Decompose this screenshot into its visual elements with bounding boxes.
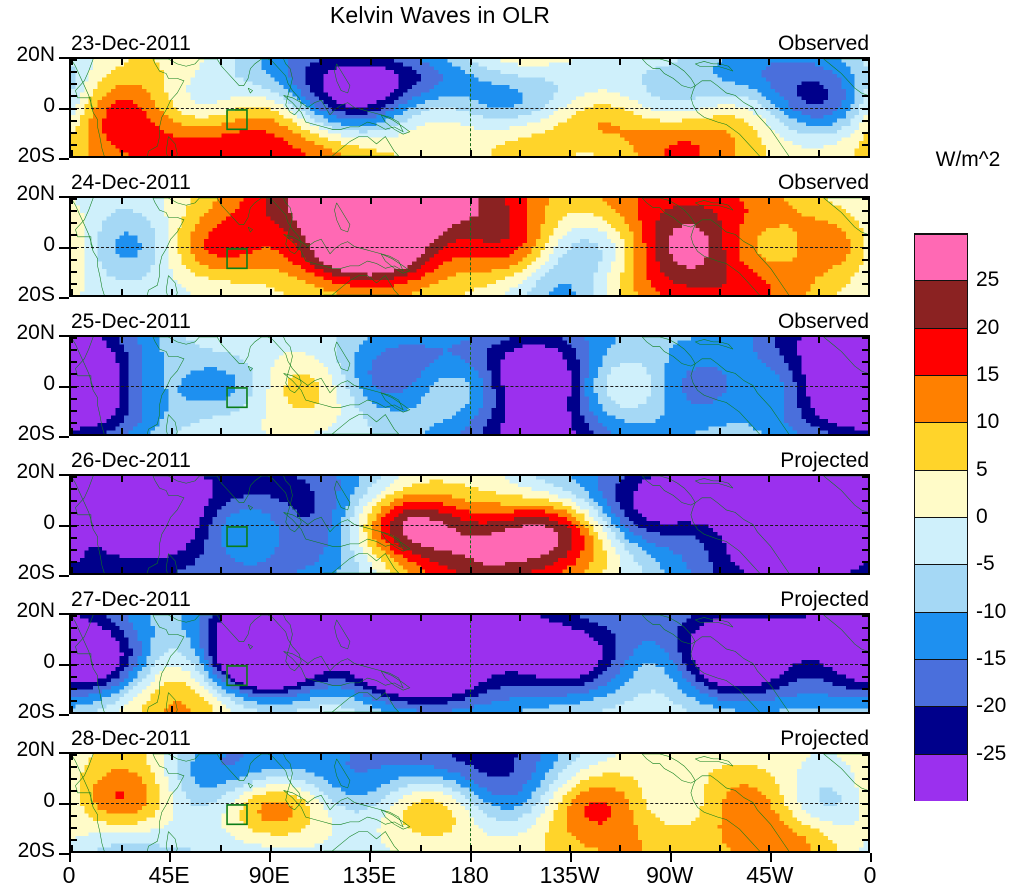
x-tick-inner — [470, 615, 472, 621]
y-tick-inner — [862, 259, 868, 261]
x-tick-inner — [320, 706, 322, 712]
x-tick-inner — [370, 615, 372, 621]
x-axis-label: 0 — [864, 862, 877, 889]
y-tick — [59, 297, 69, 299]
x-tick — [770, 853, 772, 862]
x-tick-inner — [171, 337, 173, 343]
x-tick-inner — [868, 150, 870, 156]
y-tick-inner — [71, 500, 77, 502]
y-tick — [59, 196, 69, 198]
y-tick-inner — [862, 132, 868, 134]
y-tick — [59, 803, 69, 805]
panel-date-label: 26-Dec-2011 — [71, 449, 191, 473]
y-tick-inner — [862, 488, 868, 490]
y-tick-inner — [862, 222, 868, 224]
x-tick-inner — [669, 476, 671, 482]
y-axis-label: 20N — [0, 738, 55, 762]
y-axis-label: 20N — [0, 182, 55, 206]
x-tick-inner — [669, 706, 671, 712]
x-axis-label: 180 — [450, 862, 488, 889]
x-tick-inner — [868, 59, 870, 65]
x-tick-inner — [868, 567, 870, 573]
dateline-180-line — [470, 754, 471, 851]
x-tick-inner — [519, 337, 521, 343]
x-tick-inner — [270, 198, 272, 204]
x-tick-inner — [370, 845, 372, 851]
colorbar-separator — [914, 564, 968, 565]
x-tick-inner — [868, 615, 870, 621]
x-tick-inner — [519, 476, 521, 482]
x-tick-inner — [121, 59, 123, 65]
x-tick — [870, 853, 872, 862]
x-tick-inner — [669, 754, 671, 760]
y-tick-inner — [862, 83, 868, 85]
x-tick-inner — [569, 754, 571, 760]
y-axis-label: 20S — [0, 283, 55, 307]
x-tick-inner — [569, 337, 571, 343]
x-tick — [570, 853, 572, 862]
x-tick-inner — [420, 289, 422, 295]
x-tick-inner — [719, 706, 721, 712]
colorbar-band[interactable] — [914, 612, 968, 659]
x-tick-inner — [818, 845, 820, 851]
dateline-180-line — [470, 476, 471, 573]
x-tick-inner — [719, 150, 721, 156]
y-tick-inner — [862, 512, 868, 514]
y-tick — [59, 714, 69, 716]
x-tick-inner — [519, 615, 521, 621]
y-axis-label: 20N — [0, 599, 55, 623]
x-tick-inner — [818, 150, 820, 156]
y-tick-inner — [71, 361, 77, 363]
x-tick-inner — [270, 476, 272, 482]
y-tick-inner — [71, 790, 77, 792]
x-tick-inner — [669, 198, 671, 204]
panel-kind-label: Projected — [780, 588, 869, 612]
y-tick-inner — [71, 778, 77, 780]
y-tick-inner — [71, 664, 77, 666]
x-tick-inner — [320, 428, 322, 434]
y-tick-inner — [862, 156, 868, 158]
map-panel-3: 25-Dec-2011Observed20N020S — [69, 335, 870, 436]
colorbar-separator — [914, 706, 968, 707]
y-tick-inner — [71, 537, 77, 539]
x-tick-inner — [818, 476, 820, 482]
x-tick-inner — [171, 845, 173, 851]
panel-date-label: 28-Dec-2011 — [71, 727, 191, 751]
y-tick-inner — [862, 639, 868, 641]
colorbar-band[interactable] — [914, 706, 968, 753]
y-tick-inner — [862, 398, 868, 400]
y-tick-inner — [71, 815, 77, 817]
x-tick-inner — [320, 289, 322, 295]
x-tick-inner — [470, 337, 472, 343]
y-tick-inner — [71, 234, 77, 236]
y-axis-label: 20S — [0, 561, 55, 585]
y-tick — [59, 158, 69, 160]
x-tick-inner — [768, 567, 770, 573]
x-tick-inner — [171, 198, 173, 204]
y-tick-inner — [862, 827, 868, 829]
colorbar-tick-label: 5 — [976, 458, 988, 482]
y-tick — [59, 575, 69, 577]
y-tick-inner — [71, 259, 77, 261]
x-tick — [470, 853, 472, 862]
y-tick-inner — [71, 95, 77, 97]
y-tick — [59, 436, 69, 438]
x-tick-inner — [320, 198, 322, 204]
y-tick — [59, 613, 69, 615]
dateline-180-line — [470, 615, 471, 712]
x-tick-inner — [171, 615, 173, 621]
x-tick-inner — [669, 289, 671, 295]
y-tick-inner — [862, 361, 868, 363]
colorbar-separator — [914, 659, 968, 660]
y-tick-inner — [862, 500, 868, 502]
x-tick-inner — [171, 59, 173, 65]
x-tick-inner — [370, 337, 372, 343]
y-tick — [59, 853, 69, 855]
x-tick-inner — [569, 150, 571, 156]
x-tick-inner — [569, 615, 571, 621]
y-tick-inner — [862, 839, 868, 841]
x-tick — [169, 853, 171, 862]
colorbar-separator — [914, 612, 968, 613]
x-tick-inner — [669, 150, 671, 156]
x-tick-inner — [768, 754, 770, 760]
y-axis-label: 0 — [0, 372, 55, 396]
x-tick-inner — [320, 150, 322, 156]
x-tick-inner — [220, 428, 222, 434]
x-tick-inner — [768, 428, 770, 434]
y-axis-label: 20S — [0, 700, 55, 724]
x-tick-inner — [320, 615, 322, 621]
y-tick — [59, 335, 69, 337]
y-tick-inner — [862, 525, 868, 527]
x-tick-inner — [569, 59, 571, 65]
x-tick-inner — [420, 476, 422, 482]
x-tick-inner — [669, 428, 671, 434]
x-tick-inner — [569, 428, 571, 434]
x-axis-labels: 045E90E135E180135W90W45W0 — [69, 862, 870, 890]
y-tick-inner — [862, 434, 868, 436]
x-tick-inner — [171, 428, 173, 434]
x-tick-inner — [320, 59, 322, 65]
y-tick-inner — [862, 712, 868, 714]
y-tick-inner — [862, 108, 868, 110]
colorbar-band[interactable] — [914, 422, 968, 469]
y-tick-inner — [862, 422, 868, 424]
x-tick-inner — [470, 59, 472, 65]
y-tick-inner — [862, 700, 868, 702]
y-axis-label: 0 — [0, 94, 55, 118]
x-tick-inner — [818, 706, 820, 712]
x-tick-inner — [569, 198, 571, 204]
x-axis-label: 45E — [149, 862, 190, 889]
x-tick-inner — [868, 845, 870, 851]
x-tick-inner — [619, 198, 621, 204]
y-tick-inner — [71, 803, 77, 805]
x-tick-inner — [370, 150, 372, 156]
y-tick-inner — [862, 373, 868, 375]
colorbar-separator — [914, 280, 968, 281]
x-tick-inner — [270, 754, 272, 760]
y-tick-inner — [862, 271, 868, 273]
panel-frame — [69, 335, 870, 436]
colorbar-tick-label: -25 — [976, 742, 1006, 766]
x-tick-inner — [818, 337, 820, 343]
y-tick-inner — [71, 247, 77, 249]
x-tick-inner — [171, 567, 173, 573]
y-tick — [59, 664, 69, 666]
y-tick-inner — [862, 95, 868, 97]
x-tick-inner — [519, 567, 521, 573]
x-tick-inner — [768, 706, 770, 712]
x-tick-inner — [868, 706, 870, 712]
y-tick-inner — [71, 295, 77, 297]
x-tick-inner — [470, 567, 472, 573]
y-tick-inner — [71, 766, 77, 768]
y-tick-inner — [71, 712, 77, 714]
x-tick-inner — [669, 845, 671, 851]
colorbar-band[interactable] — [914, 375, 968, 422]
x-tick-inner — [569, 706, 571, 712]
x-tick-inner — [768, 476, 770, 482]
colorbar-band[interactable] — [914, 233, 968, 280]
x-tick-inner — [719, 337, 721, 343]
x-tick-inner — [171, 706, 173, 712]
colorbar-tick-label: -5 — [976, 552, 995, 576]
y-tick-inner — [71, 198, 77, 200]
y-tick-inner — [71, 156, 77, 158]
x-tick-inner — [220, 754, 222, 760]
x-tick-inner — [569, 567, 571, 573]
y-tick-inner — [862, 537, 868, 539]
x-tick-inner — [519, 428, 521, 434]
map-panel-5: 27-Dec-2011Projected20N020S — [69, 613, 870, 714]
y-tick-inner — [862, 386, 868, 388]
colorbar-tick-label: -15 — [976, 647, 1006, 671]
x-tick-inner — [121, 845, 123, 851]
y-tick-inner — [862, 688, 868, 690]
x-tick-inner — [121, 337, 123, 343]
x-tick-inner — [519, 754, 521, 760]
colorbar-band[interactable] — [914, 659, 968, 706]
x-tick-inner — [619, 567, 621, 573]
colorbar-tick-label: 15 — [976, 363, 999, 387]
x-tick-inner — [619, 150, 621, 156]
x-tick-inner — [370, 476, 372, 482]
colorbar-tick-label: -20 — [976, 694, 1006, 718]
y-axis-label: 20N — [0, 460, 55, 484]
x-tick-inner — [370, 59, 372, 65]
y-tick-inner — [862, 337, 868, 339]
y-tick-inner — [862, 651, 868, 653]
x-tick-inner — [121, 476, 123, 482]
y-tick-inner — [862, 120, 868, 122]
colorbar-band[interactable] — [914, 564, 968, 611]
x-tick-inner — [320, 567, 322, 573]
x-axis-label: 0 — [63, 862, 76, 889]
colorbar-tick-label: 0 — [976, 505, 988, 529]
y-axis-label: 20N — [0, 321, 55, 345]
x-axis-label: 45W — [746, 862, 793, 889]
x-tick-inner — [220, 476, 222, 482]
colorbar-separator — [914, 328, 968, 329]
x-axis-label: 135W — [540, 862, 600, 889]
y-tick-inner — [71, 422, 77, 424]
x-tick-inner — [818, 615, 820, 621]
y-tick-inner — [862, 778, 868, 780]
x-tick-inner — [470, 198, 472, 204]
y-tick-inner — [71, 525, 77, 527]
colorbar-tick-label: 10 — [976, 410, 999, 434]
x-tick-inner — [470, 428, 472, 434]
colorbar-band[interactable] — [914, 470, 968, 517]
x-tick-inner — [220, 289, 222, 295]
y-tick-inner — [71, 410, 77, 412]
y-tick-inner — [862, 295, 868, 297]
panel-date-label: 23-Dec-2011 — [71, 32, 191, 56]
x-tick-inner — [818, 754, 820, 760]
x-tick-inner — [320, 337, 322, 343]
x-tick-inner — [719, 428, 721, 434]
x-tick-inner — [519, 59, 521, 65]
y-tick-inner — [862, 210, 868, 212]
x-tick-inner — [420, 567, 422, 573]
x-tick-inner — [569, 845, 571, 851]
y-tick-inner — [71, 488, 77, 490]
x-tick-inner — [270, 706, 272, 712]
y-axis-label: 20N — [0, 43, 55, 67]
map-panel-4: 26-Dec-2011Projected20N020S — [69, 474, 870, 575]
x-tick-inner — [519, 706, 521, 712]
y-tick-inner — [862, 627, 868, 629]
x-tick-inner — [370, 754, 372, 760]
y-tick-inner — [862, 144, 868, 146]
x-tick-inner — [420, 337, 422, 343]
y-tick-inner — [71, 754, 77, 756]
x-tick-inner — [818, 567, 820, 573]
x-tick-inner — [719, 59, 721, 65]
colorbar-separator — [914, 754, 968, 755]
y-tick-inner — [71, 615, 77, 617]
y-tick-inner — [71, 549, 77, 551]
y-tick-inner — [71, 700, 77, 702]
y-tick-inner — [71, 59, 77, 61]
x-axis-label: 90W — [646, 862, 693, 889]
panel-frame — [69, 752, 870, 853]
x-tick-inner — [370, 706, 372, 712]
x-tick-inner — [619, 476, 621, 482]
colorbar[interactable]: 2520151050-5-10-15-20-25 — [914, 233, 968, 801]
x-tick-inner — [420, 428, 422, 434]
y-tick-inner — [71, 627, 77, 629]
x-tick-inner — [470, 845, 472, 851]
y-tick-inner — [71, 210, 77, 212]
y-tick-inner — [862, 754, 868, 756]
y-axis-label: 0 — [0, 233, 55, 257]
y-tick-inner — [71, 144, 77, 146]
x-tick-inner — [420, 754, 422, 760]
x-tick-inner — [270, 337, 272, 343]
y-tick — [59, 247, 69, 249]
x-tick-inner — [619, 754, 621, 760]
colorbar-band[interactable] — [914, 280, 968, 327]
x-tick-inner — [220, 706, 222, 712]
x-tick-inner — [121, 754, 123, 760]
y-axis-label: 20S — [0, 839, 55, 863]
x-tick-inner — [519, 845, 521, 851]
x-tick-inner — [121, 198, 123, 204]
colorbar-separator — [914, 422, 968, 423]
x-tick-inner — [669, 337, 671, 343]
x-axis-label: 135E — [343, 862, 397, 889]
x-tick-inner — [569, 289, 571, 295]
y-tick-inner — [71, 851, 77, 853]
y-tick-inner — [862, 766, 868, 768]
x-tick-inner — [270, 615, 272, 621]
y-tick-inner — [71, 398, 77, 400]
y-tick-inner — [862, 476, 868, 478]
x-tick-inner — [768, 289, 770, 295]
y-tick-inner — [71, 676, 77, 678]
x-tick-inner — [220, 615, 222, 621]
x-tick-inner — [370, 567, 372, 573]
y-tick — [59, 386, 69, 388]
y-tick-inner — [71, 120, 77, 122]
x-tick-inner — [519, 198, 521, 204]
x-tick-inner — [768, 615, 770, 621]
x-tick-inner — [270, 59, 272, 65]
y-tick-inner — [862, 815, 868, 817]
y-axis-label: 20S — [0, 144, 55, 168]
x-tick-inner — [619, 428, 621, 434]
x-tick-inner — [220, 198, 222, 204]
x-tick-inner — [868, 337, 870, 343]
colorbar-band[interactable] — [914, 328, 968, 375]
panel-kind-label: Projected — [780, 727, 869, 751]
colorbar-unit-label: W/m^2 — [908, 148, 1021, 172]
x-tick-inner — [669, 615, 671, 621]
x-tick-inner — [420, 198, 422, 204]
x-tick-inner — [818, 198, 820, 204]
x-tick-inner — [868, 476, 870, 482]
x-tick-inner — [868, 754, 870, 760]
colorbar-band[interactable] — [914, 517, 968, 564]
x-tick-inner — [519, 150, 521, 156]
x-tick-inner — [719, 289, 721, 295]
y-tick-inner — [71, 434, 77, 436]
x-tick-inner — [868, 428, 870, 434]
y-tick-inner — [862, 59, 868, 61]
x-tick-inner — [171, 289, 173, 295]
y-tick-inner — [862, 71, 868, 73]
y-tick-inner — [71, 271, 77, 273]
y-tick-inner — [71, 283, 77, 285]
y-tick-inner — [71, 349, 77, 351]
x-tick-inner — [121, 428, 123, 434]
x-tick-inner — [220, 59, 222, 65]
colorbar-band[interactable] — [914, 754, 968, 801]
x-tick-inner — [619, 706, 621, 712]
x-tick-inner — [619, 845, 621, 851]
x-tick-inner — [818, 428, 820, 434]
x-tick-inner — [420, 706, 422, 712]
x-tick-inner — [220, 337, 222, 343]
panel-frame — [69, 196, 870, 297]
y-tick-inner — [862, 247, 868, 249]
